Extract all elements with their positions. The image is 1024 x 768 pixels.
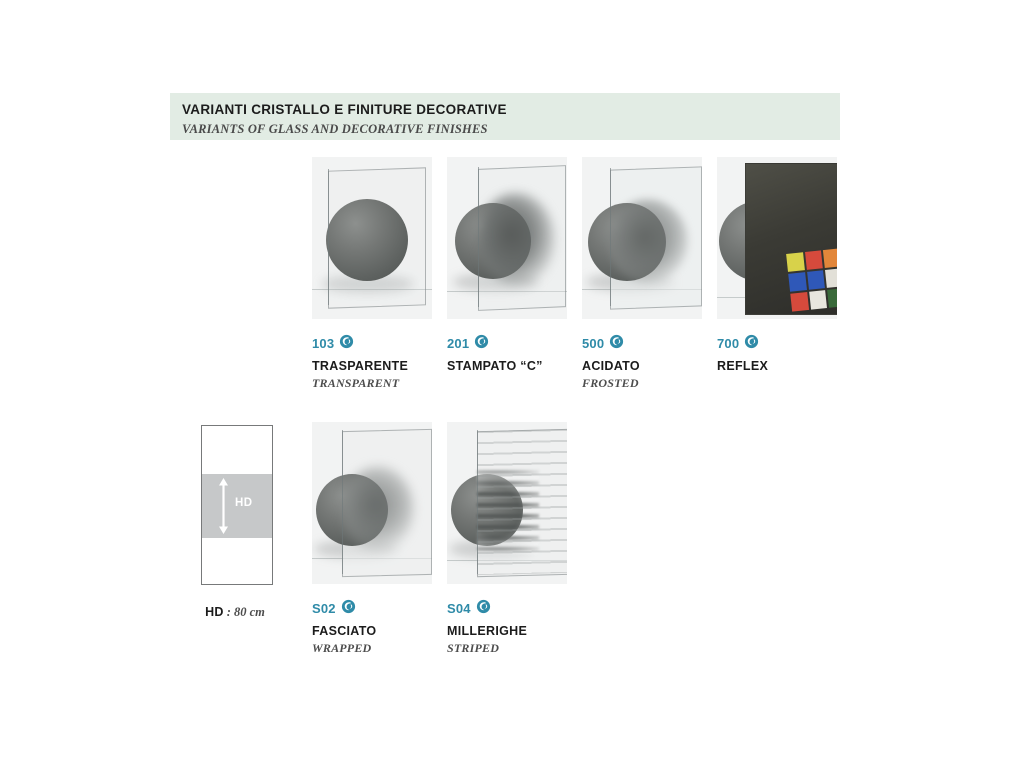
color-checker-grid — [786, 248, 837, 311]
glass-sample-stampato-c-image — [447, 157, 567, 319]
sample-name-it: ACIDATO — [582, 359, 702, 373]
finish-swirl-icon — [744, 334, 759, 354]
hd-dimension-diagram: HD HD : 80 cm — [201, 425, 275, 621]
glass-sample-acidato-image — [582, 157, 702, 319]
sample-code-line: 103 — [312, 335, 432, 352]
hd-caption: HD : 80 cm — [195, 603, 275, 621]
sample-code: 500 — [582, 336, 604, 351]
sample-name-en: WRAPPED — [312, 641, 432, 656]
sample-card-201[interactable]: 201 STAMPATO “C” — [447, 157, 567, 376]
sample-card-700[interactable]: 700 REFLEX — [717, 157, 837, 376]
sample-code: 103 — [312, 336, 334, 351]
finish-swirl-icon — [476, 599, 491, 619]
finish-swirl-icon — [609, 334, 624, 354]
hd-band-label: HD — [235, 497, 252, 509]
checker-swatch — [805, 250, 823, 270]
sample-name-it: REFLEX — [717, 359, 837, 373]
page-title: VARIANTI CRISTALLO E FINITURE DECORATIVE — [182, 100, 840, 120]
sample-name-it: MILLERIGHE — [447, 624, 567, 638]
sample-name-en: TRANSPARENT — [312, 376, 432, 391]
sample-caption: 201 STAMPATO “C” — [447, 335, 567, 373]
hd-caption-key: HD — [205, 605, 223, 619]
checker-swatch — [827, 288, 837, 308]
glass-sample-reflex-image — [717, 157, 837, 319]
finish-swirl-icon — [474, 334, 489, 354]
glass-sample-transparent-image — [312, 157, 432, 319]
finish-swirl-icon — [339, 334, 354, 354]
hd-caption-value: : 80 cm — [224, 605, 265, 619]
sample-name-en: FROSTED — [582, 376, 702, 391]
checker-swatch — [788, 272, 806, 292]
sample-caption: S02 FASCIATO WRAPPED — [312, 600, 432, 656]
page-subtitle: VARIANTS OF GLASS AND DECORATIVE FINISHE… — [182, 120, 840, 139]
section-header-band: VARIANTI CRISTALLO E FINITURE DECORATIVE… — [170, 93, 840, 140]
sample-code: 700 — [717, 336, 739, 351]
sample-code-line: 700 — [717, 335, 837, 352]
checker-swatch — [786, 252, 804, 272]
hd-panel-outline: HD — [201, 425, 273, 585]
sample-caption: 500 ACIDATO FROSTED — [582, 335, 702, 391]
hd-double-arrow-icon — [218, 478, 229, 534]
finish-swirl-icon — [341, 599, 356, 619]
sample-card-S04[interactable]: S04 MILLERIGHE STRIPED — [447, 422, 567, 656]
sample-code: S04 — [447, 601, 471, 616]
sample-card-S02[interactable]: S02 FASCIATO WRAPPED — [312, 422, 432, 656]
checker-swatch — [809, 290, 827, 310]
sample-caption: 700 REFLEX — [717, 335, 837, 373]
sample-name-it: STAMPATO “C” — [447, 359, 567, 373]
sample-card-500[interactable]: 500 ACIDATO FROSTED — [582, 157, 702, 391]
checker-swatch — [823, 248, 837, 268]
sample-card-103[interactable]: 103 TRASPARENTE TRANSPARENT — [312, 157, 432, 391]
sample-code-line: S02 — [312, 600, 432, 617]
sample-code-line: 201 — [447, 335, 567, 352]
checker-swatch — [790, 292, 808, 312]
sample-code: 201 — [447, 336, 469, 351]
sample-caption: 103 TRASPARENTE TRANSPARENT — [312, 335, 432, 391]
sample-code-line: S04 — [447, 600, 567, 617]
sample-name-it: TRASPARENTE — [312, 359, 432, 373]
glass-sample-fasciato-image — [312, 422, 432, 584]
glass-sample-millerighe-image — [447, 422, 567, 584]
checker-swatch — [825, 268, 837, 288]
sample-code-line: 500 — [582, 335, 702, 352]
sample-code: S02 — [312, 601, 336, 616]
sample-name-en: STRIPED — [447, 641, 567, 656]
checker-swatch — [807, 270, 825, 290]
sample-caption: S04 MILLERIGHE STRIPED — [447, 600, 567, 656]
sample-name-it: FASCIATO — [312, 624, 432, 638]
